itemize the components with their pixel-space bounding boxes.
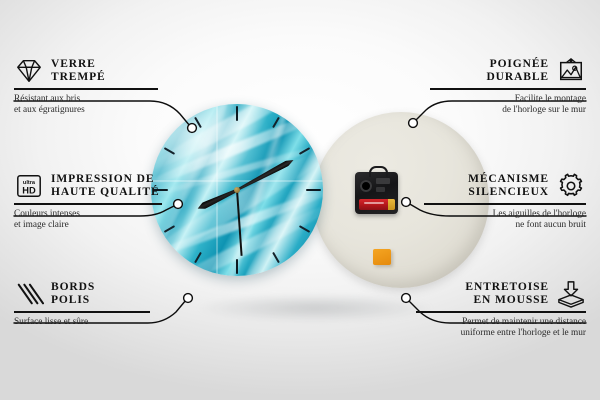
leader-endpoint-entretoise — [402, 294, 411, 303]
battery-label-stripe — [364, 202, 384, 204]
battery-positive-cap — [388, 199, 395, 210]
leader-endpoint-bords-polis — [184, 294, 193, 303]
callout-sub-2: uniforme entre l'horloge et le mur — [412, 328, 586, 339]
callout-title-2: EN MOUSSE — [465, 294, 549, 308]
callout-sub: Couleurs intenses — [14, 209, 166, 220]
callout-rule — [430, 88, 586, 90]
callout-rule — [14, 203, 162, 205]
ultra-hd-badge-icon: ultra HD — [14, 172, 44, 200]
foam-spacer-icon — [556, 280, 586, 308]
callout-rule — [424, 203, 586, 205]
clock-tick-3 — [237, 189, 321, 191]
clock-front-view — [151, 104, 323, 276]
movement-slot — [376, 178, 390, 184]
movement-dial — [360, 180, 372, 192]
callout-mecanisme-silencieux[interactable]: MÉCANISME SILENCIEUX Les aiguilles de l'… — [420, 172, 586, 231]
callout-sub-2: et image claire — [14, 220, 166, 231]
callout-title-2: POLIS — [51, 294, 95, 308]
callout-sub: Les aiguilles de l'horloge — [420, 209, 586, 220]
polished-edges-icon — [14, 280, 44, 308]
callout-sub-2: ne font aucun bruit — [420, 220, 586, 231]
movement-slot-secondary — [376, 187, 385, 192]
callout-rule — [14, 88, 158, 90]
picture-hanger-icon — [556, 57, 586, 85]
callout-title-2: SILENCIEUX — [468, 186, 549, 200]
callout-sub: Permet de maintenir une distance — [412, 317, 586, 328]
clock-hub-cap — [234, 187, 240, 193]
callout-sub: Surface lisse et sûre — [14, 317, 154, 328]
callout-verre-trempe[interactable]: VERRE TREMPÉ Résistant aux bris et aux é… — [14, 57, 164, 116]
callout-title-2: HAUTE QUALITÉ — [51, 186, 160, 200]
callout-rule — [416, 311, 586, 313]
callout-sub: Facilite le montage — [426, 94, 586, 105]
callout-title: MÉCANISME — [468, 173, 549, 187]
foam-spacer — [373, 249, 391, 265]
callout-entretoise-en-mousse[interactable]: ENTRETOISE EN MOUSSE Permet de maintenir… — [412, 280, 586, 339]
callout-impression-haute-qualite[interactable]: ultra HD IMPRESSION DE HAUTE QUALITÉ Cou… — [14, 172, 166, 231]
callout-title: POIGNÉE — [486, 58, 549, 72]
callout-title: BORDS — [51, 281, 95, 295]
callout-title-2: DURABLE — [486, 71, 549, 85]
callout-sub: Résistant aux bris — [14, 94, 164, 105]
callout-title: IMPRESSION DE — [51, 173, 160, 187]
callout-bords-polis[interactable]: BORDS POLIS Surface lisse et sûre — [14, 280, 154, 328]
product-infographic: VERRE TREMPÉ Résistant aux bris et aux é… — [0, 0, 600, 400]
clock-movement-mechanism — [355, 172, 398, 214]
callout-sub-2: de l'horloge sur le mur — [426, 105, 586, 116]
gear-icon — [556, 172, 586, 200]
callout-title-2: TREMPÉ — [51, 71, 106, 85]
callout-sub-2: et aux égratignures — [14, 105, 164, 116]
callout-title: VERRE — [51, 58, 106, 72]
callout-rule — [14, 311, 150, 313]
callout-title: ENTRETOISE — [465, 281, 549, 295]
clock-tick-12 — [236, 106, 238, 190]
callout-poignee-durable[interactable]: POIGNÉE DURABLE Facilite le montage de l… — [426, 57, 586, 116]
battery — [359, 199, 395, 210]
svg-text:HD: HD — [22, 185, 36, 195]
diamond-icon — [14, 57, 44, 85]
